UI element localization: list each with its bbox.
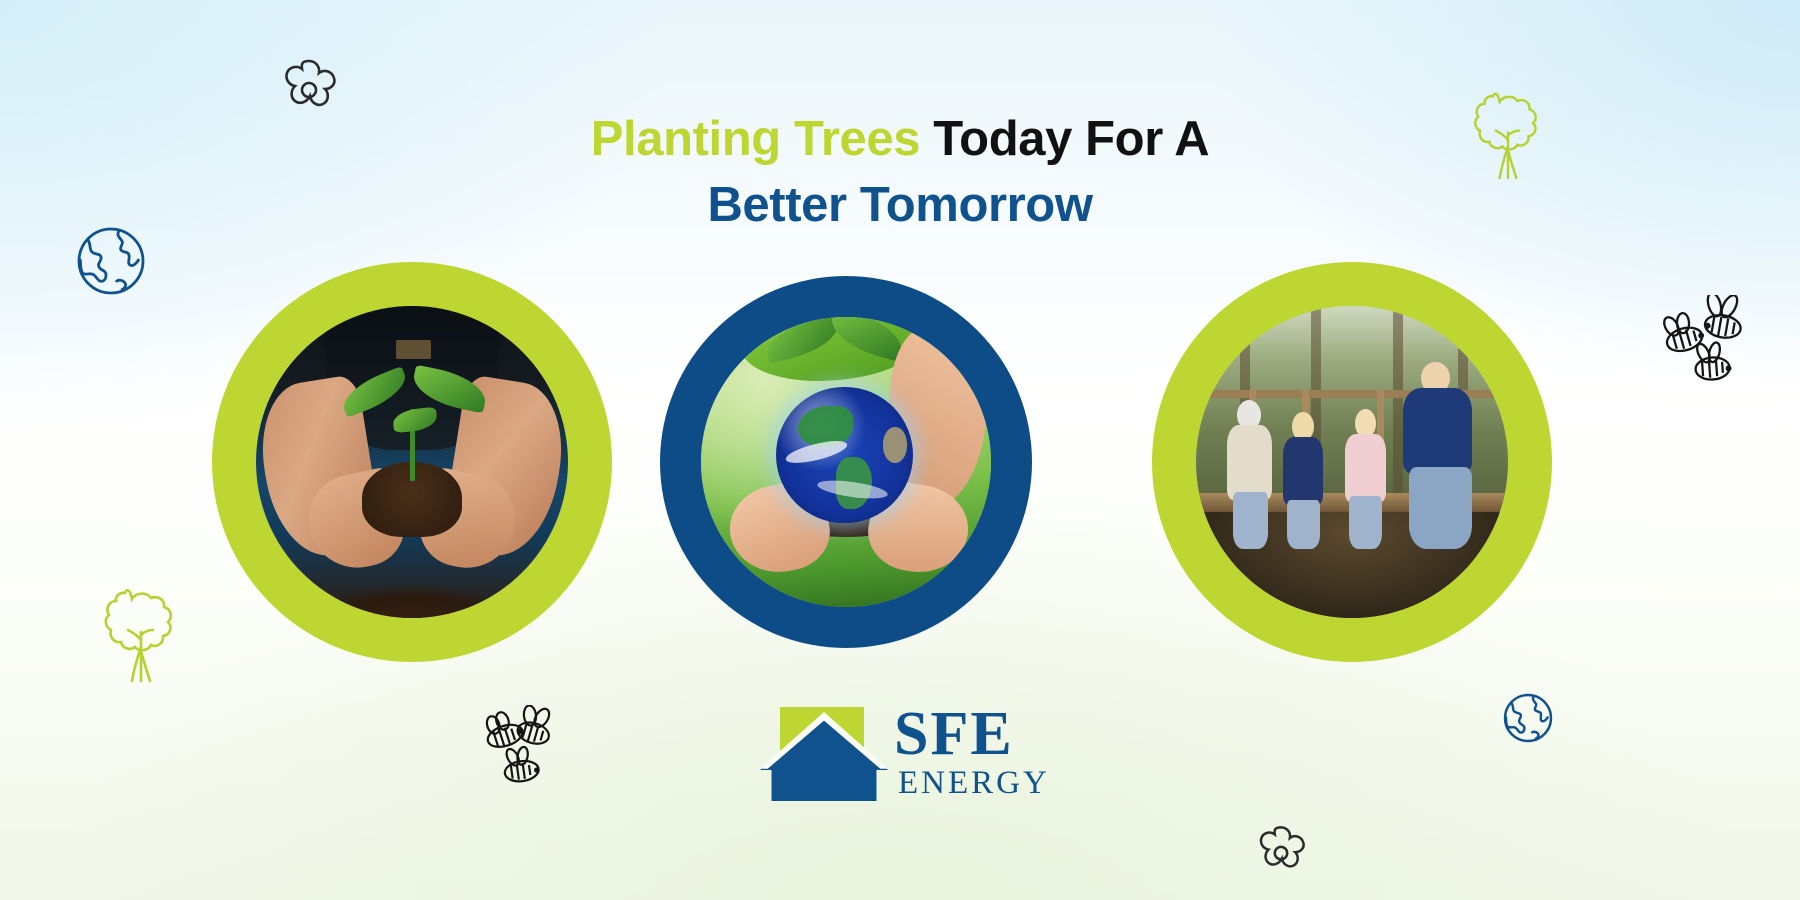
flower-icon	[275, 55, 343, 127]
earth-globe-photo	[776, 387, 912, 523]
globe-icon	[72, 222, 150, 300]
logo-wordmark: SFE ENERGY	[894, 703, 1050, 800]
process-pods	[0, 262, 1800, 662]
logo-name: SFE	[894, 703, 1050, 765]
pod-seedling	[212, 262, 612, 662]
logo-subtitle: ENERGY	[894, 767, 1050, 800]
headline-line-1: Planting Trees Today For A	[591, 112, 1210, 166]
pod-photo-family	[1196, 306, 1508, 618]
bee-cluster-icon	[1658, 295, 1768, 391]
sfe-energy-logo[interactable]: SFE ENERGY	[760, 697, 1060, 805]
globe-icon	[1500, 690, 1556, 746]
pod-family	[1152, 262, 1552, 662]
flower-icon	[1250, 822, 1312, 886]
pod-photo-seedling	[256, 306, 568, 618]
headline-emphasis: Planting Trees	[591, 112, 920, 166]
sfe-house-mark-icon	[760, 701, 888, 801]
headline-rest: Today For A	[920, 112, 1209, 166]
tree-icon	[1468, 88, 1548, 192]
banner-root: Planting Trees Today For A Better Tomorr…	[0, 0, 1800, 900]
tree-icon	[98, 585, 184, 695]
pod-photo-earth	[701, 317, 991, 607]
pod-earth	[660, 276, 1032, 648]
bee-cluster-icon	[478, 705, 578, 795]
